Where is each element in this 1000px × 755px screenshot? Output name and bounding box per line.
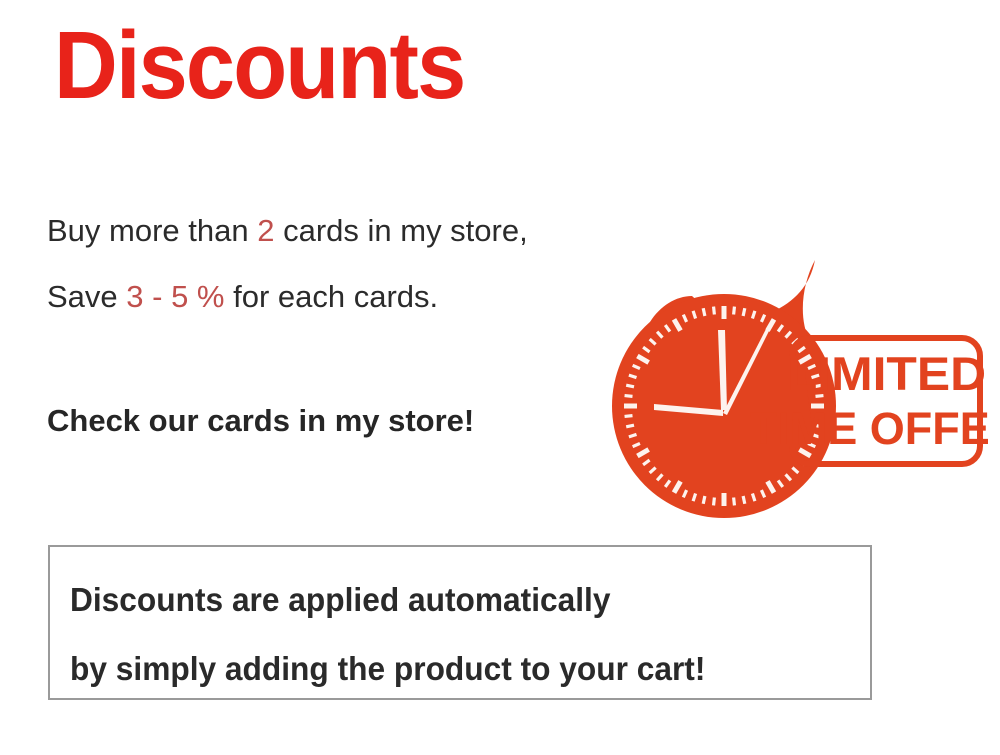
promo-line-savings-value: 3 - 5 % — [126, 279, 224, 314]
promo-line-savings: Save 3 - 5 % for each cards. — [47, 264, 667, 330]
auto-discount-callout-text: Discounts are applied automatically by s… — [70, 565, 860, 703]
promo-line-quantity: Buy more than 2 cards in my store, — [47, 198, 667, 264]
promo-line-savings-prefix: Save — [47, 279, 126, 314]
auto-discount-callout-box: Discounts are applied automatically by s… — [48, 545, 872, 700]
callout-line-1: Discounts are applied automatically — [70, 565, 828, 634]
badge-line-limited: LIMITED — [787, 348, 986, 400]
limited-time-offer-graphic: LIMITED TIME OFFER — [596, 258, 988, 518]
page-title: Discounts — [54, 14, 464, 118]
promo-line-quantity-value: 2 — [257, 213, 274, 248]
flame-clock-icon: LIMITED TIME OFFER — [596, 258, 988, 518]
badge-line-time-offer: TIME OFFER — [750, 403, 988, 454]
promo-line-savings-suffix: for each cards. — [225, 279, 439, 314]
promo-body-text: Buy more than 2 cards in my store, Save … — [47, 198, 667, 330]
promo-line-quantity-suffix: cards in my store, — [274, 213, 527, 248]
cta-text: Check our cards in my store! — [47, 398, 474, 444]
promo-line-quantity-prefix: Buy more than — [47, 213, 257, 248]
promo-banner: Discounts Buy more than 2 cards in my st… — [0, 0, 1000, 755]
callout-line-2: by simply adding the product to your car… — [70, 634, 828, 703]
